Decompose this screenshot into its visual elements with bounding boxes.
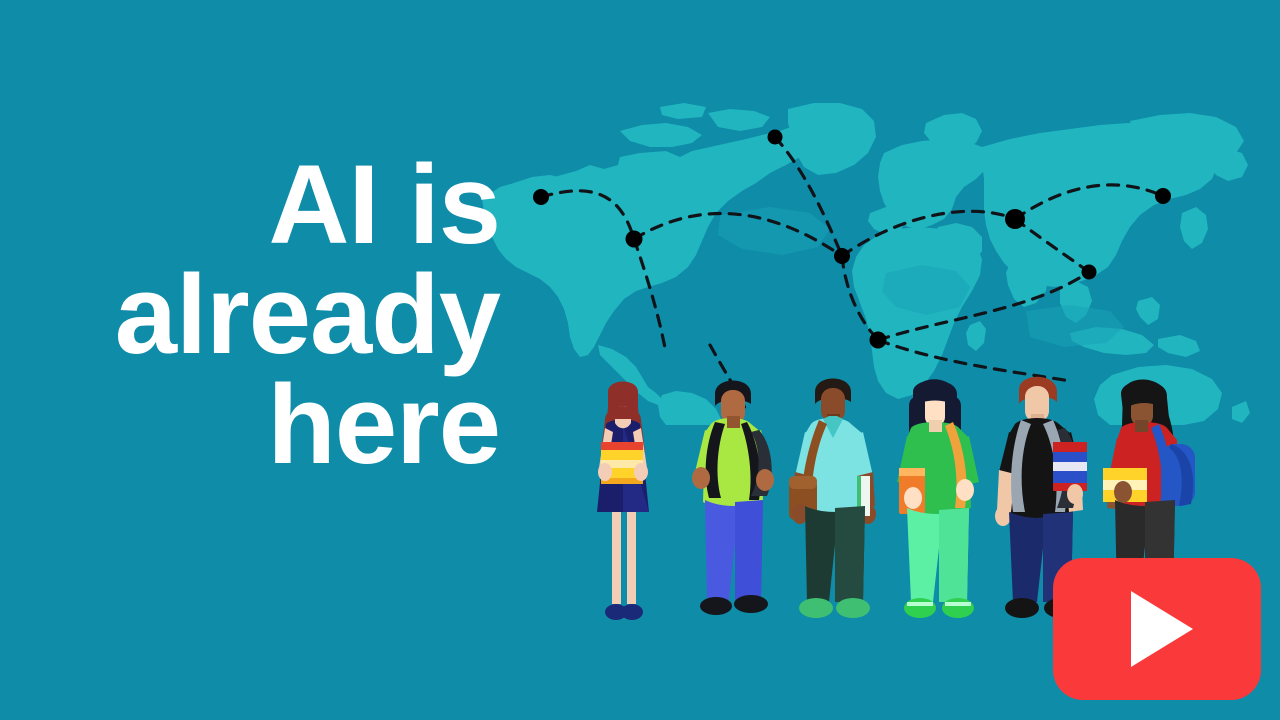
student-figure-3 [789,379,876,619]
student-5-books [1053,442,1087,491]
page-title: AI is already here [20,150,500,479]
map-node-europe [834,248,850,264]
map-node-far-east [1155,188,1171,204]
student-figure-2 [692,381,774,616]
headline-line-2: already [20,260,500,370]
map-node-greenland [768,130,783,145]
headline-line-1: AI is [20,150,500,260]
student-figure-1 [597,382,649,621]
video-thumbnail: AI is already here [0,0,1280,720]
student-figure-4 [897,379,979,618]
map-node-south-asia [870,332,887,349]
map-node-north-america [626,231,643,248]
map-node-siberia [1005,209,1025,229]
headline-line-3: here [20,370,500,480]
map-node-east-asia [1082,265,1097,280]
play-triangle-icon [1131,591,1193,667]
map-node-alaska [533,189,549,205]
play-button[interactable]: Play [1053,558,1261,700]
